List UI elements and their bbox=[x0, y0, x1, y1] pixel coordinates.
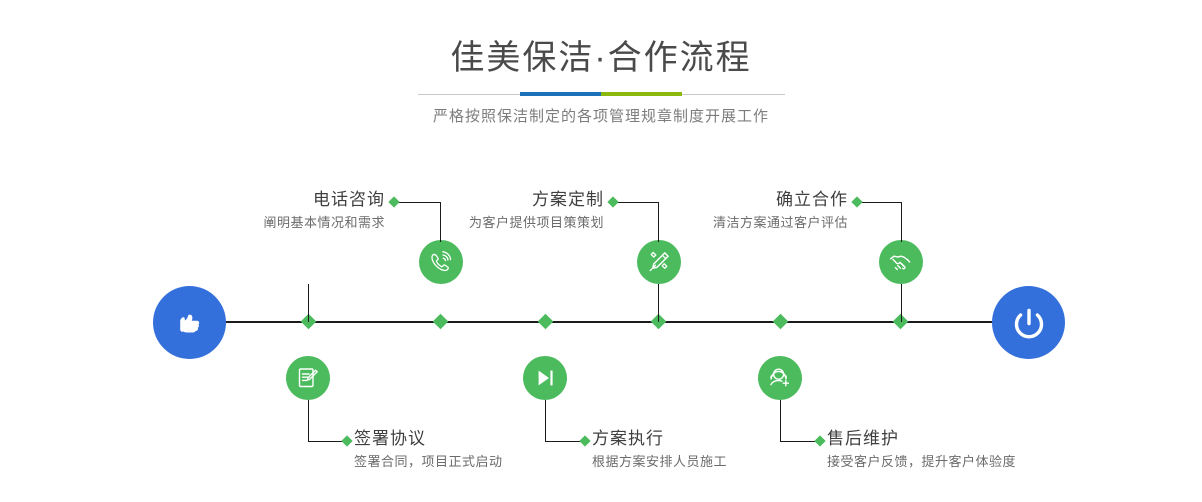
step-desc-6: 接受客户反馈，提升客户体验度 bbox=[827, 451, 1117, 473]
timeline-start-node bbox=[153, 286, 226, 359]
step-3-axis-stem bbox=[658, 284, 659, 322]
axis-marker-5 bbox=[773, 314, 789, 330]
phone-call-icon bbox=[428, 249, 454, 275]
timeline-end-node bbox=[992, 286, 1065, 359]
step-desc-4: 根据方案安排人员施工 bbox=[592, 451, 842, 473]
document-edit-icon bbox=[295, 365, 321, 391]
step-node-2[interactable] bbox=[286, 356, 330, 400]
step-5-connector-vertical bbox=[901, 202, 902, 242]
step-6-leader-horizontal bbox=[780, 441, 819, 442]
page-subtitle: 严格按照保洁制定的各项管理规章制度开展工作 bbox=[0, 106, 1202, 128]
step-1-axis-stem bbox=[308, 284, 309, 322]
step-label-5: 确立合作 清洁方案通过客户评估 bbox=[610, 188, 848, 234]
pen-ruler-icon bbox=[646, 249, 672, 275]
step-node-3[interactable] bbox=[637, 240, 681, 284]
step-node-5[interactable] bbox=[879, 240, 923, 284]
divider-accent-blue bbox=[520, 92, 601, 96]
headset-support-icon bbox=[767, 365, 793, 391]
step-label-3: 方案定制 为客户提供项目策策划 bbox=[370, 188, 604, 234]
step-desc-2: 签署合同，项目正式启动 bbox=[354, 451, 614, 473]
step-label-6: 售后维护 接受客户反馈，提升客户体验度 bbox=[827, 427, 1117, 473]
step-5-leader-horizontal bbox=[857, 202, 901, 203]
timeline-axis bbox=[160, 321, 1042, 323]
step-4-connector-vertical bbox=[545, 400, 546, 441]
step-title-1: 电话咨询 bbox=[150, 188, 385, 212]
step-title-2: 签署协议 bbox=[354, 427, 614, 451]
step-5-axis-stem bbox=[901, 284, 902, 322]
flow-diagram-canvas: 佳美保洁·合作流程 严格按照保洁制定的各项管理规章制度开展工作 bbox=[0, 0, 1202, 502]
step-desc-3: 为客户提供项目策策划 bbox=[370, 212, 604, 234]
step-node-1[interactable] bbox=[419, 240, 463, 284]
step-5-leader-tip bbox=[851, 196, 862, 207]
step-label-2: 签署协议 签署合同，项目正式启动 bbox=[354, 427, 614, 473]
step-node-4[interactable] bbox=[523, 356, 567, 400]
step-label-4: 方案执行 根据方案安排人员施工 bbox=[592, 427, 842, 473]
divider-accent-green bbox=[601, 92, 682, 96]
step-title-5: 确立合作 bbox=[610, 188, 848, 212]
step-2-leader-tip bbox=[341, 435, 352, 446]
step-title-6: 售后维护 bbox=[827, 427, 1117, 451]
step-desc-5: 清洁方案通过客户评估 bbox=[610, 212, 848, 234]
step-title-3: 方案定制 bbox=[370, 188, 604, 212]
header: 佳美保洁·合作流程 bbox=[0, 36, 1202, 80]
page-title: 佳美保洁·合作流程 bbox=[0, 36, 1202, 80]
step-4-leader-horizontal bbox=[545, 441, 584, 442]
step-2-connector-vertical bbox=[308, 400, 309, 441]
step-label-1: 电话咨询 阐明基本情况和需求 bbox=[150, 188, 385, 234]
pointing-hand-icon bbox=[170, 303, 210, 343]
power-icon bbox=[1007, 301, 1051, 345]
axis-marker-3 bbox=[538, 314, 554, 330]
step-6-connector-vertical bbox=[780, 400, 781, 441]
step-title-4: 方案执行 bbox=[592, 427, 842, 451]
step-node-6[interactable] bbox=[758, 356, 802, 400]
axis-marker-2 bbox=[433, 314, 449, 330]
step-desc-1: 阐明基本情况和需求 bbox=[150, 212, 385, 234]
play-skip-icon bbox=[532, 365, 558, 391]
handshake-icon bbox=[888, 249, 914, 275]
